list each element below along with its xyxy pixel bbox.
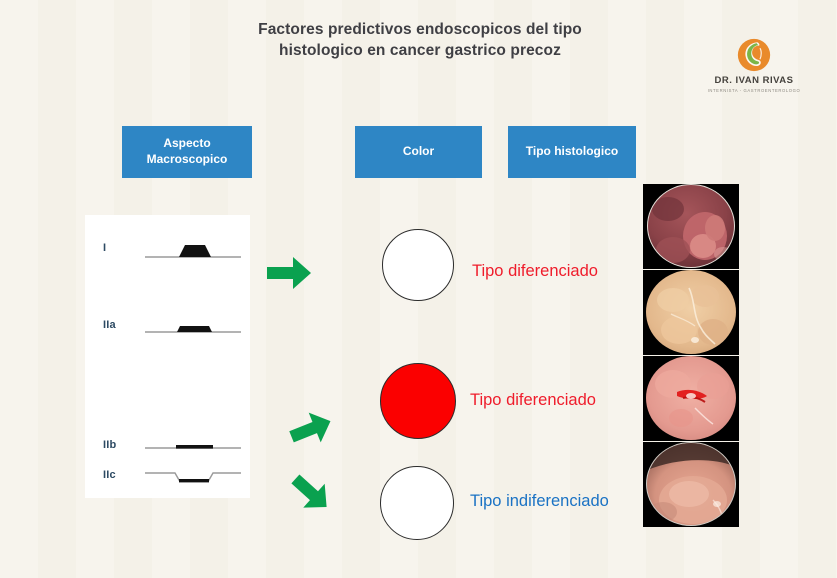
red-circle <box>380 363 456 439</box>
lesion-row-IIc: IIc <box>85 460 250 494</box>
logo: DR. IVAN RIVAS INTERNISTA - GASTROENTERO… <box>705 38 803 93</box>
result-label-diferenciado-1: Tipo diferenciado <box>472 262 598 281</box>
logo-name: DR. IVAN RIVAS <box>705 75 803 86</box>
photo-1-image <box>643 184 739 269</box>
slide-canvas: Factores predictivos endoscopicos del ti… <box>0 0 837 578</box>
header-tipo-histologico: Tipo histologico <box>508 126 636 178</box>
lesion-shape-protruded-icon <box>143 233 243 267</box>
photo-2-image <box>643 270 739 355</box>
white-circle-1 <box>382 229 454 301</box>
lesion-label-IIb: IIb <box>103 439 116 451</box>
arrow-up-right-icon <box>288 408 334 450</box>
photo-3-image <box>643 356 739 441</box>
endoscopy-photo-elevated-lesion <box>643 270 739 355</box>
white-circle-2 <box>380 466 454 540</box>
endoscopy-photo-protruded-lesion <box>643 184 739 269</box>
page-title: Factores predictivos endoscopicos del ti… <box>200 20 640 62</box>
endoscopy-photo-undifferentiated <box>643 442 739 527</box>
header-aspecto-line-1: Aspecto <box>163 136 210 150</box>
photo-4-image <box>643 442 739 527</box>
arrow-right-icon <box>265 252 313 294</box>
arrow-down-right-icon <box>288 470 334 516</box>
lesion-label-I: I <box>103 242 106 254</box>
header-aspecto-macroscopico: Aspecto Macroscopico <box>122 126 252 178</box>
header-aspecto-line-2: Macroscopico <box>147 152 228 166</box>
lesion-label-IIc: IIc <box>103 469 116 481</box>
endoscopy-photo-depressed-lesion <box>643 356 739 441</box>
result-label-diferenciado-2: Tipo diferenciado <box>470 391 596 410</box>
title-line-1: Factores predictivos endoscopicos del ti… <box>200 20 640 41</box>
logo-subtitle: INTERNISTA - GASTROENTEROLOGO <box>705 88 803 93</box>
lesion-label-IIa: IIa <box>103 319 116 331</box>
lesion-shape-depressed-icon <box>143 460 243 494</box>
header-color: Color <box>355 126 482 178</box>
lesion-row-IIa: IIa <box>85 310 250 344</box>
lesion-shape-flat-icon <box>143 430 243 464</box>
stomach-icon <box>737 38 771 72</box>
lesion-row-IIb: IIb <box>85 430 250 464</box>
lesion-row-I: I <box>85 233 250 267</box>
title-line-2: histologico en cancer gastrico precoz <box>200 41 640 62</box>
lesion-shape-elevated-icon <box>143 310 243 344</box>
result-label-indiferenciado: Tipo indiferenciado <box>470 492 609 511</box>
macroscopic-diagram-panel: I IIa IIb IIc <box>85 215 250 498</box>
